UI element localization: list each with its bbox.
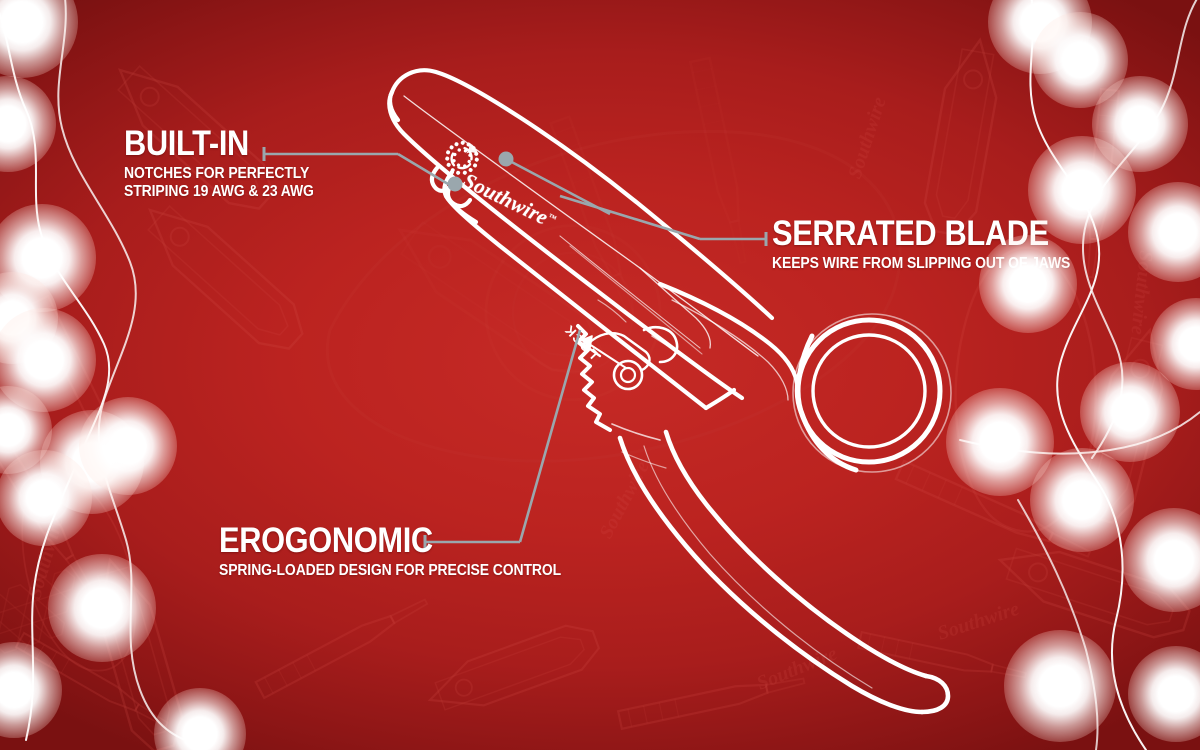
light-wire-right-3 xyxy=(960,412,1200,454)
light-bulb xyxy=(40,410,144,514)
light-bulb xyxy=(0,0,78,78)
light-bulb xyxy=(1080,362,1180,462)
light-bulb xyxy=(1092,76,1188,172)
light-wire-left-2 xyxy=(58,0,196,744)
svg-text:Southwire: Southwire xyxy=(844,94,891,181)
svg-text:Southwire: Southwire xyxy=(595,457,654,542)
callout-ergonomic-subline-1: SPRING-LOADED DESIGN FOR PRECISE CONTROL xyxy=(219,562,561,580)
light-bulb xyxy=(0,386,52,474)
trademark-symbol: ™ xyxy=(546,212,557,224)
light-wire-left xyxy=(0,0,109,740)
light-bulb xyxy=(1128,646,1200,742)
svg-text:Southwire: Southwire xyxy=(1126,249,1157,335)
callout-ergonomic-subtext: SPRING-LOADED DESIGN FOR PRECISE CONTROL xyxy=(219,562,561,580)
light-wire-right xyxy=(1030,0,1146,750)
callout-leader-lines xyxy=(0,0,1200,750)
svg-text:Southwire: Southwire xyxy=(935,598,1022,645)
string-lights xyxy=(0,0,1200,750)
southwire-wordmark-text: Southwire xyxy=(459,168,552,230)
light-bulb xyxy=(1128,182,1200,282)
light-bulb xyxy=(988,0,1092,74)
light-bulb xyxy=(0,308,96,412)
light-bulb xyxy=(0,76,56,172)
light-bulb xyxy=(1122,508,1200,612)
callout-built-in-subline-1: NOTCHES FOR PERFECTLY xyxy=(124,165,314,183)
light-bulb xyxy=(79,397,177,495)
southwire-swirl-logo-icon xyxy=(439,135,484,180)
svg-text:Southwire: Southwire xyxy=(754,643,841,695)
light-bulb xyxy=(0,642,62,738)
tool-line-art xyxy=(0,0,1200,750)
leader-line-logo-dot xyxy=(499,152,611,215)
light-bulb xyxy=(0,204,96,312)
callout-ergonomic-heading: EROGONOMIC xyxy=(219,525,553,558)
light-bulb xyxy=(1032,12,1128,108)
callout-built-in-subtext: NOTCHES FOR PERFECTLY STRIPING 19 AWG & … xyxy=(124,165,314,201)
callout-serrated-blade-subline-1: KEEPS WIRE FROM SLIPPING OUT OF JAWS xyxy=(772,255,1070,273)
light-bulb xyxy=(1004,630,1116,742)
light-bulb xyxy=(0,450,92,546)
callout-built-in-heading: BUILT-IN xyxy=(124,128,310,161)
light-bulb xyxy=(154,688,246,750)
callout-built-in-subline-2: STRIPING 19 AWG & 23 AWG xyxy=(124,183,314,201)
callout-serrated-blade: SERRATED BLADE KEEPS WIRE FROM SLIPPING … xyxy=(772,218,1103,273)
light-bulb xyxy=(1030,448,1134,552)
callout-serrated-blade-heading: SERRATED BLADE xyxy=(772,218,1064,251)
light-bulb xyxy=(0,272,58,364)
light-wire-right-4 xyxy=(1018,500,1098,750)
callout-serrated-blade-subtext: KEEPS WIRE FROM SLIPPING OUT OF JAWS xyxy=(772,255,1070,273)
callout-ergonomic: EROGONOMIC SPRING-LOADED DESIGN FOR PREC… xyxy=(219,525,599,580)
light-bulb xyxy=(1150,298,1200,390)
background-tool-outlines: Southwire Southwire Southwire Southwire … xyxy=(0,0,1200,750)
lock-label: LOCK xyxy=(561,322,601,362)
light-bulb xyxy=(48,554,156,662)
svg-text:Southwire: Southwire xyxy=(24,514,68,601)
callout-built-in: BUILT-IN NOTCHES FOR PERFECTLY STRIPING … xyxy=(124,128,335,201)
leader-line-ergonomic xyxy=(425,330,580,549)
southwire-wordmark: Southwire™ xyxy=(459,168,560,234)
leader-line-serrated-blade xyxy=(560,196,766,246)
light-bulb xyxy=(946,388,1054,496)
poster-stage: Southwire Southwire Southwire Southwire … xyxy=(0,0,1200,750)
